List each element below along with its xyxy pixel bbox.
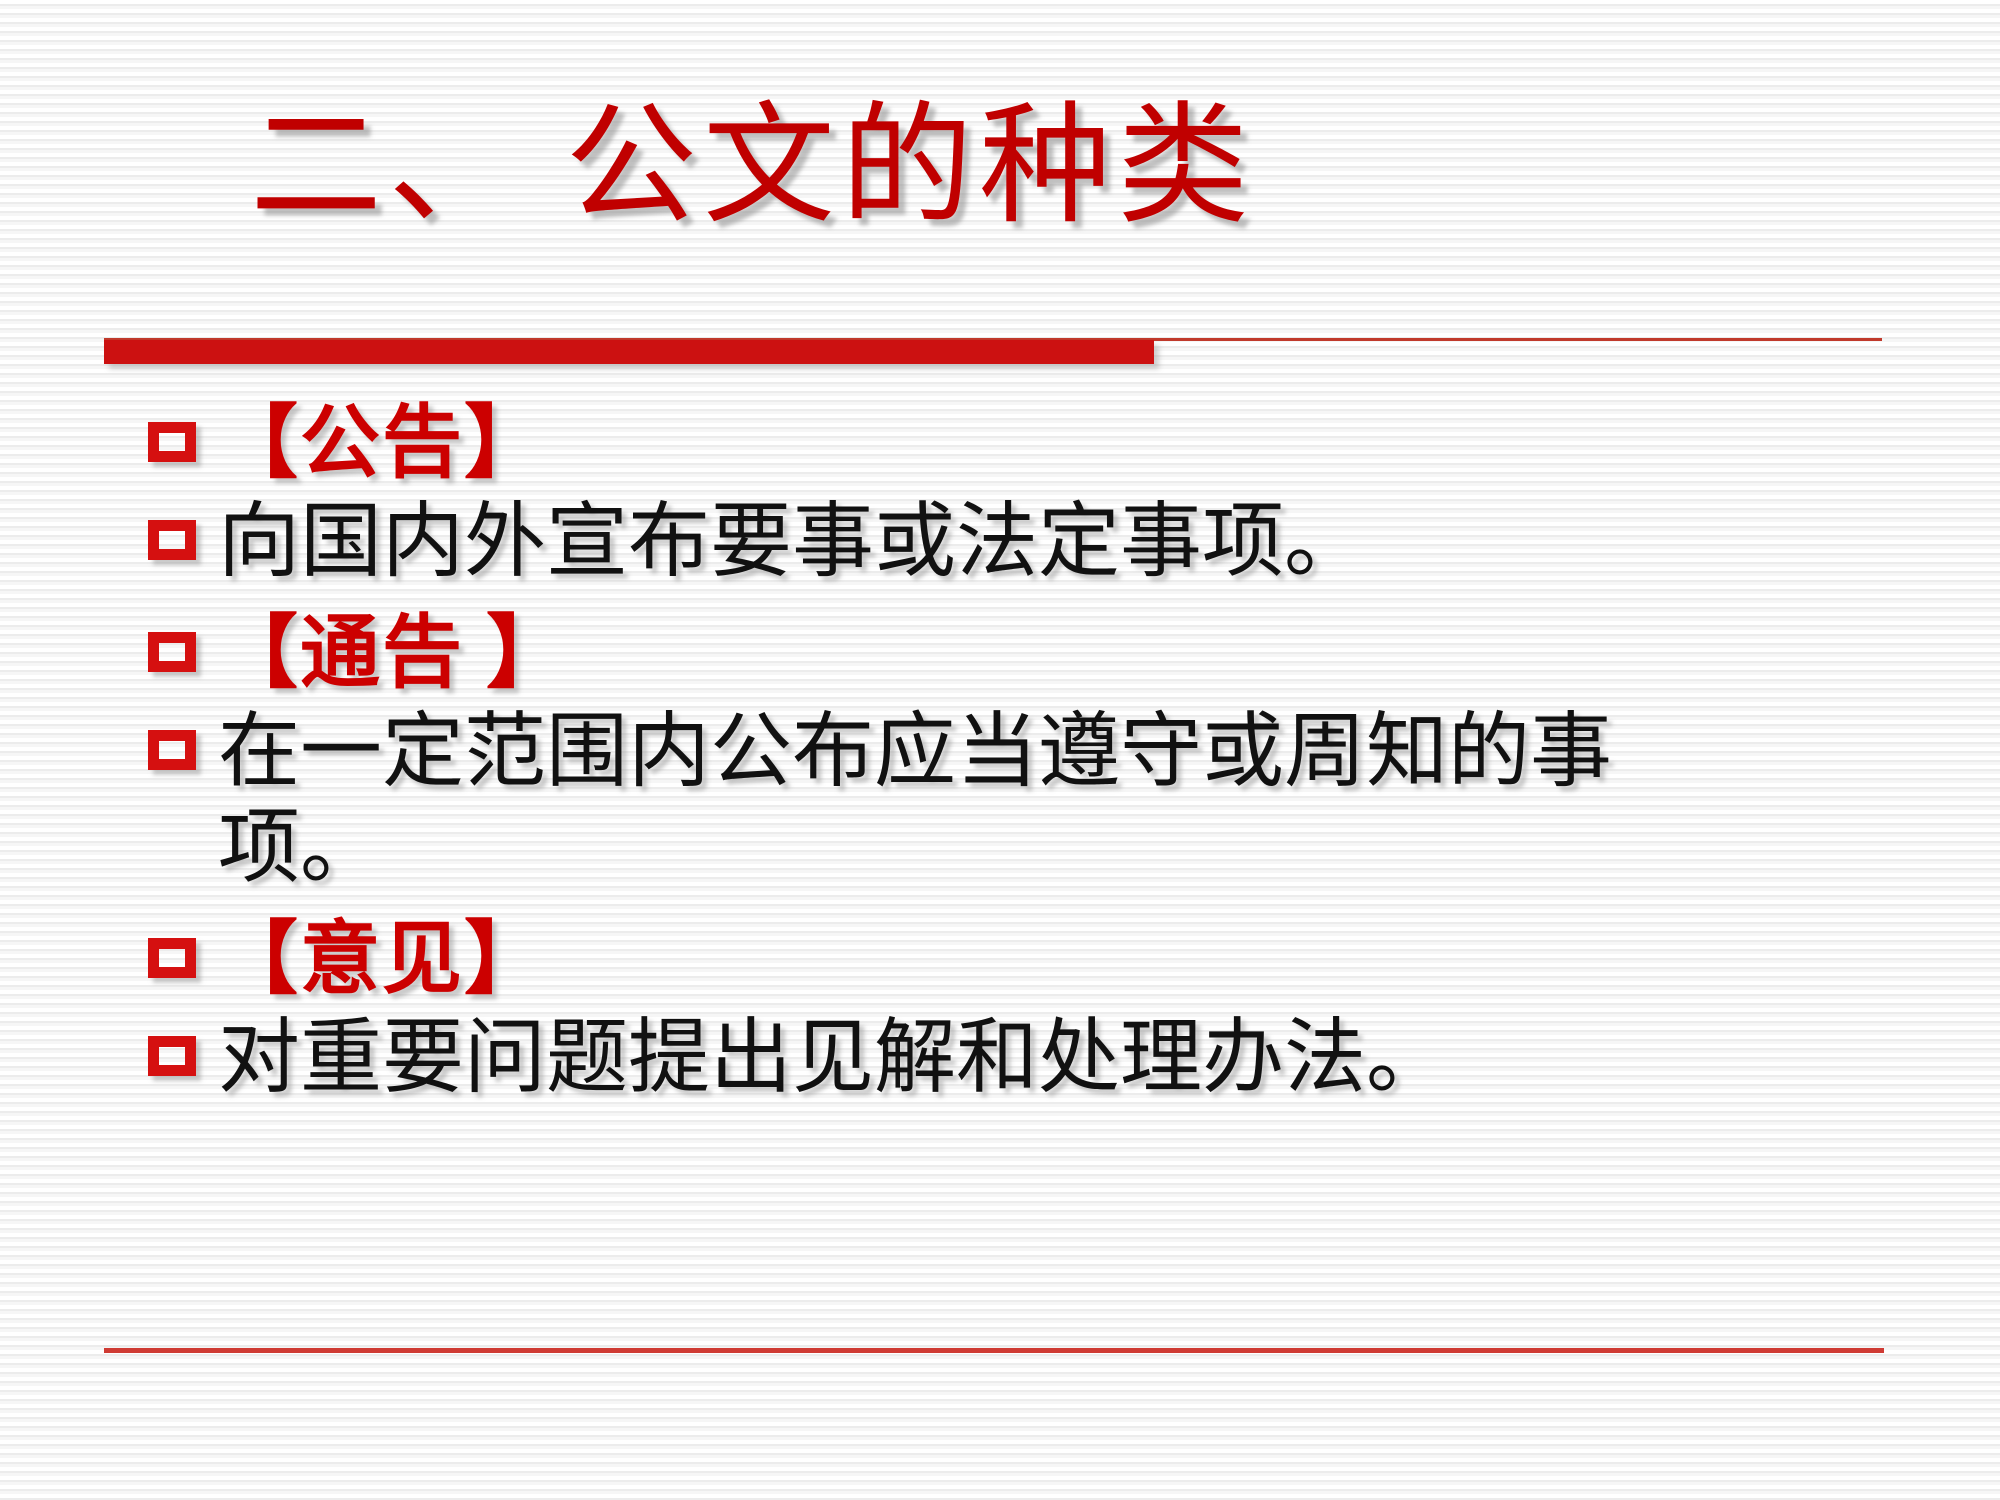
hollow-square-bullet-icon	[148, 422, 196, 462]
list-item: 向国内外宣布要事或法定事项。	[0, 494, 2000, 590]
hollow-square-bullet-icon	[148, 520, 196, 560]
slide-canvas: 二、 公文的种类 【公告】 向国内外宣布要事或法定事项。 【通告 】 在一定范围…	[0, 0, 2000, 1500]
list-item: 【公告】	[0, 396, 2000, 492]
footer-rule	[104, 1348, 1884, 1353]
title-block: 二、 公文的种类	[0, 92, 2000, 282]
list-item-label: 在一定范围内公布应当遵守或周知的事项。	[218, 704, 1718, 896]
list-item-label: 【意见】	[218, 912, 1718, 1008]
list-item-label: 向国内外宣布要事或法定事项。	[218, 494, 1718, 590]
list-item: 【意见】	[0, 912, 2000, 1008]
hollow-square-bullet-icon	[148, 938, 196, 978]
list-item: 【通告 】	[0, 606, 2000, 702]
page-title: 二、 公文的种类	[250, 92, 1255, 242]
list-item-label: 【通告 】	[218, 606, 1718, 702]
hollow-square-bullet-icon	[148, 1036, 196, 1076]
bullet-list: 【公告】 向国内外宣布要事或法定事项。 【通告 】 在一定范围内公布应当遵守或周…	[0, 396, 2000, 1122]
hollow-square-bullet-icon	[148, 632, 196, 672]
list-item-label: 对重要问题提出见解和处理办法。	[218, 1010, 1718, 1106]
list-item-label: 【公告】	[218, 396, 1718, 492]
list-item: 对重要问题提出见解和处理办法。	[0, 1010, 2000, 1106]
title-underline-thick	[104, 340, 1154, 364]
list-item: 在一定范围内公布应当遵守或周知的事项。	[0, 704, 2000, 896]
hollow-square-bullet-icon	[148, 730, 196, 770]
